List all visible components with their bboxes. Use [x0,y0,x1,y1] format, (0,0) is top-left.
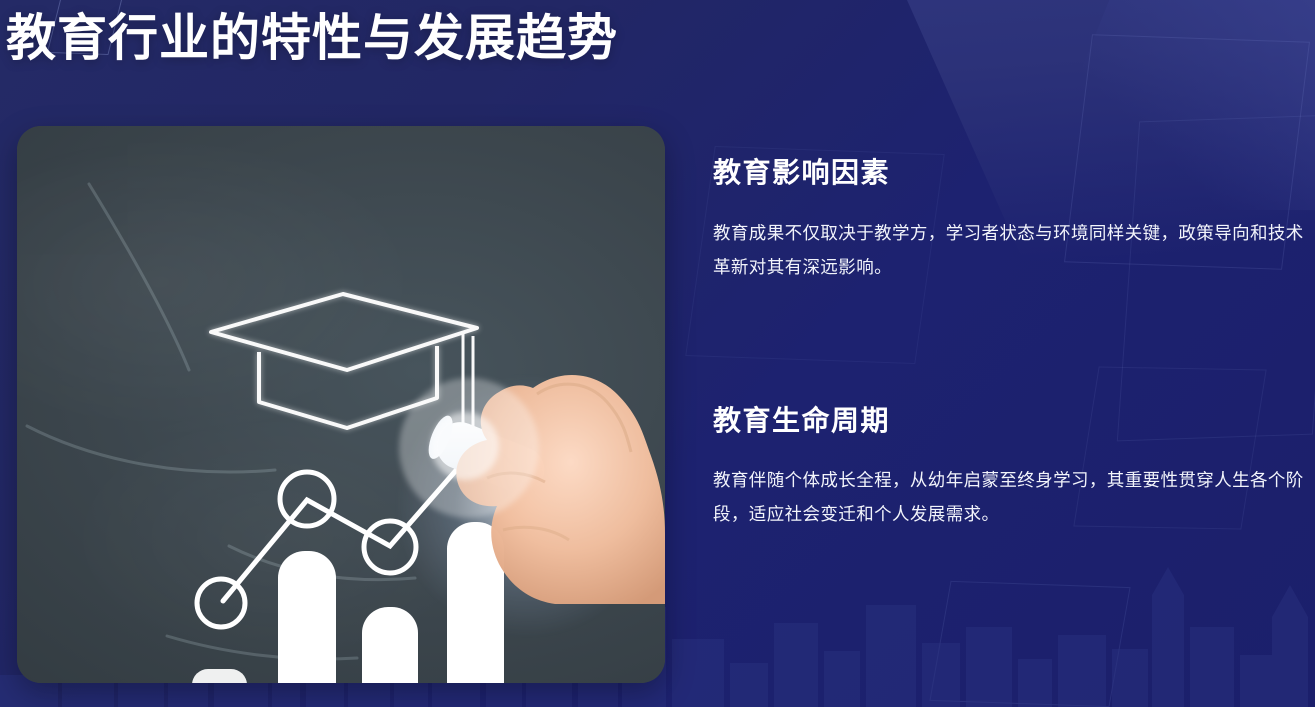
block-1-body: 教育成果不仅取决于教学方，学习者状态与环境同样关键，政策导向和技术革新对其有深远… [713,216,1313,284]
page-title: 教育行业的特性与发展趋势 [6,9,618,68]
block-1-heading: 教育影响因素 [713,156,1313,190]
content-block-1: 教育影响因素 教育成果不仅取决于教学方，学习者状态与环境同样关键，政策导向和技术… [713,156,1313,284]
outline-quad-bottom [929,581,1130,707]
chalk-drawing [17,126,665,683]
content-column: 教育影响因素 教育成果不仅取决于教学方，学习者状态与环境同样关键，政策导向和技术… [713,156,1313,531]
block-2-body: 教育伴随个体成长全程，从幼年启蒙至终身学习，其重要性贯穿人生各个阶段，适应社会变… [713,463,1313,531]
chalkboard-illustration-card [17,126,665,683]
slide-root: 教育行业的特性与发展趋势 [0,0,1315,707]
block-2-heading: 教育生命周期 [713,404,1313,438]
content-block-2: 教育生命周期 教育伴随个体成长全程，从幼年启蒙至终身学习，其重要性贯穿人生各个阶… [713,404,1313,532]
